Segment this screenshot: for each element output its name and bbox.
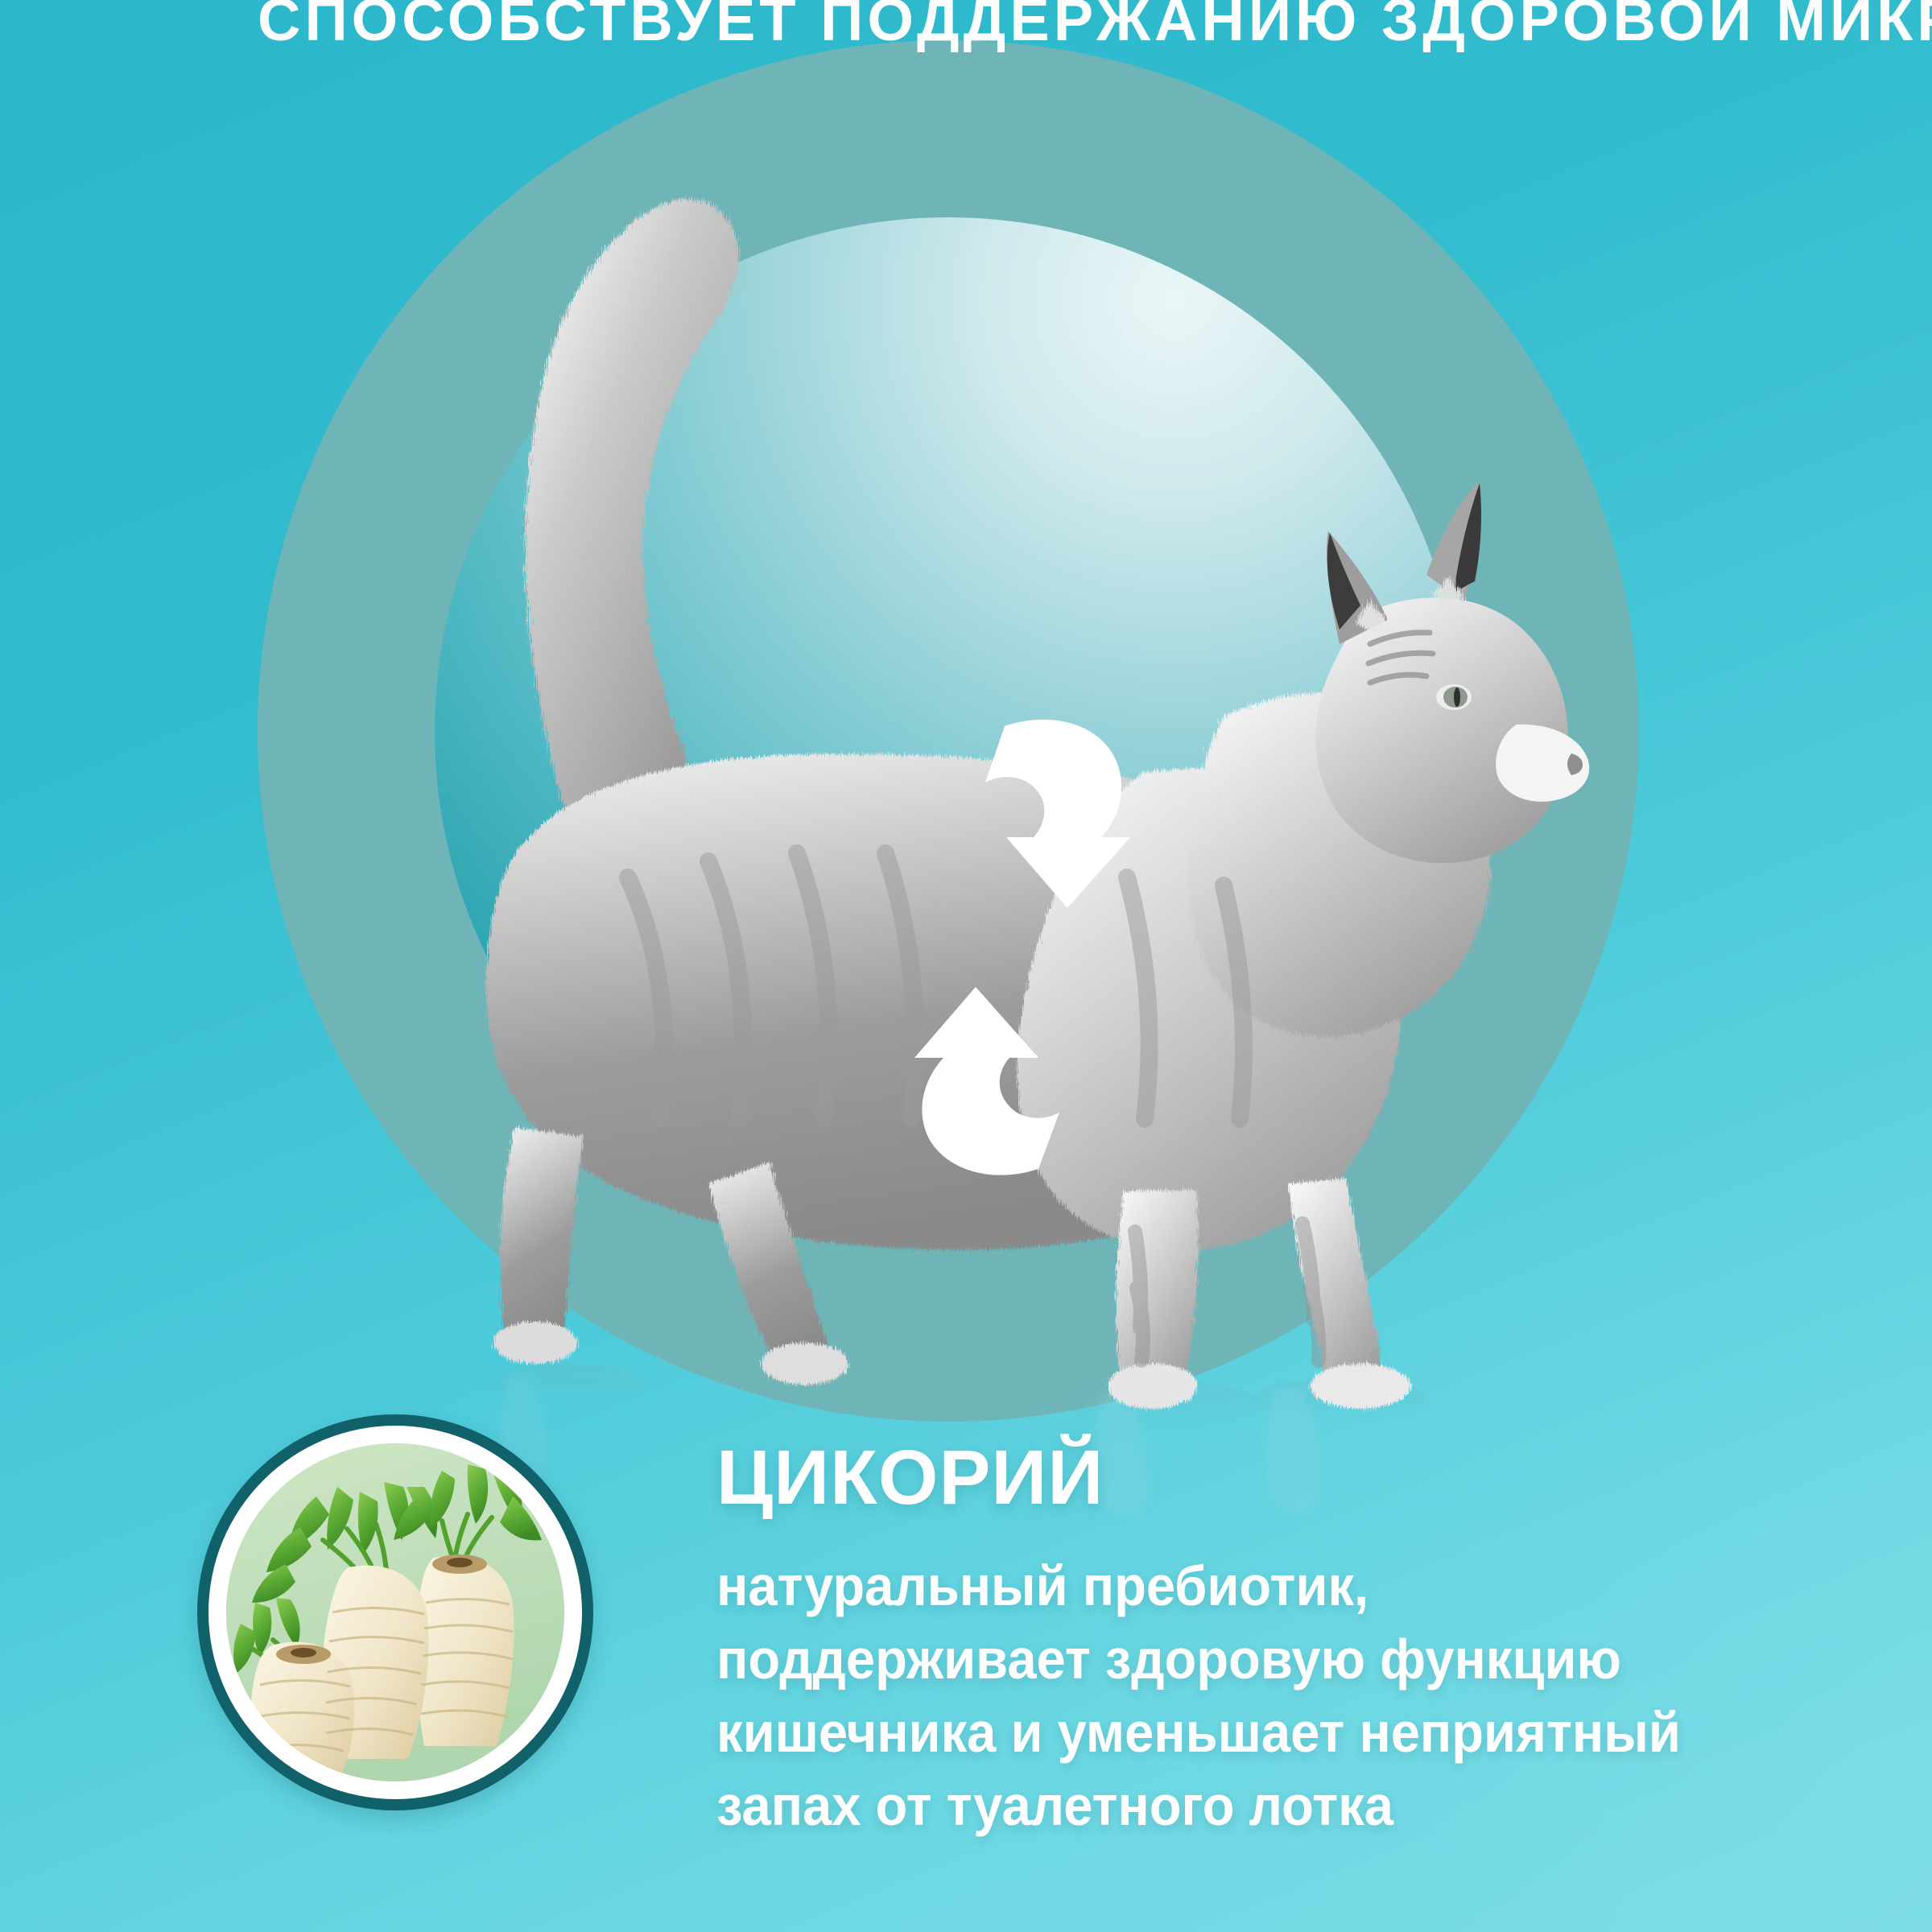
ingredient-description-line-2: поддерживает здоровую функцию	[716, 1623, 1712, 1696]
promo-banner: СПОСОБСТВУЕТ ПОДДЕРЖАНИЮ ЗДОРОВОЙ МИКРОФ…	[0, 0, 1932, 1932]
ingredient-description-line-1: натуральный пребиотик,	[716, 1550, 1712, 1623]
benefit-badge: СПОСОБСТВУЕТ ПОДДЕРЖАНИЮ ЗДОРОВОЙ МИКРОФ…	[258, 40, 1639, 1422]
chicory-roots-photo	[226, 1443, 564, 1781]
ingredient-description: натуральный пребиотик, поддерживает здор…	[716, 1550, 1712, 1843]
ingredient-title: ЦИКОРИЙ	[716, 1441, 1787, 1514]
ingredient-description-line-4: запах от туалетного лотка	[716, 1769, 1712, 1843]
ingredient-copy: ЦИКОРИЙ натуральный пребиотик, поддержив…	[716, 1441, 1787, 1843]
badge-ring-caption: СПОСОБСТВУЕТ ПОДДЕРЖАНИЮ ЗДОРОВОЙ МИКРОФ…	[258, 40, 1639, 1422]
badge-ring-caption-text: СПОСОБСТВУЕТ ПОДДЕРЖАНИЮ ЗДОРОВОЙ МИКРОФ…	[258, 0, 1932, 53]
ingredient-description-line-3: кишечника и уменьшает неприятный	[716, 1696, 1712, 1769]
ingredient-icon	[197, 1414, 593, 1810]
